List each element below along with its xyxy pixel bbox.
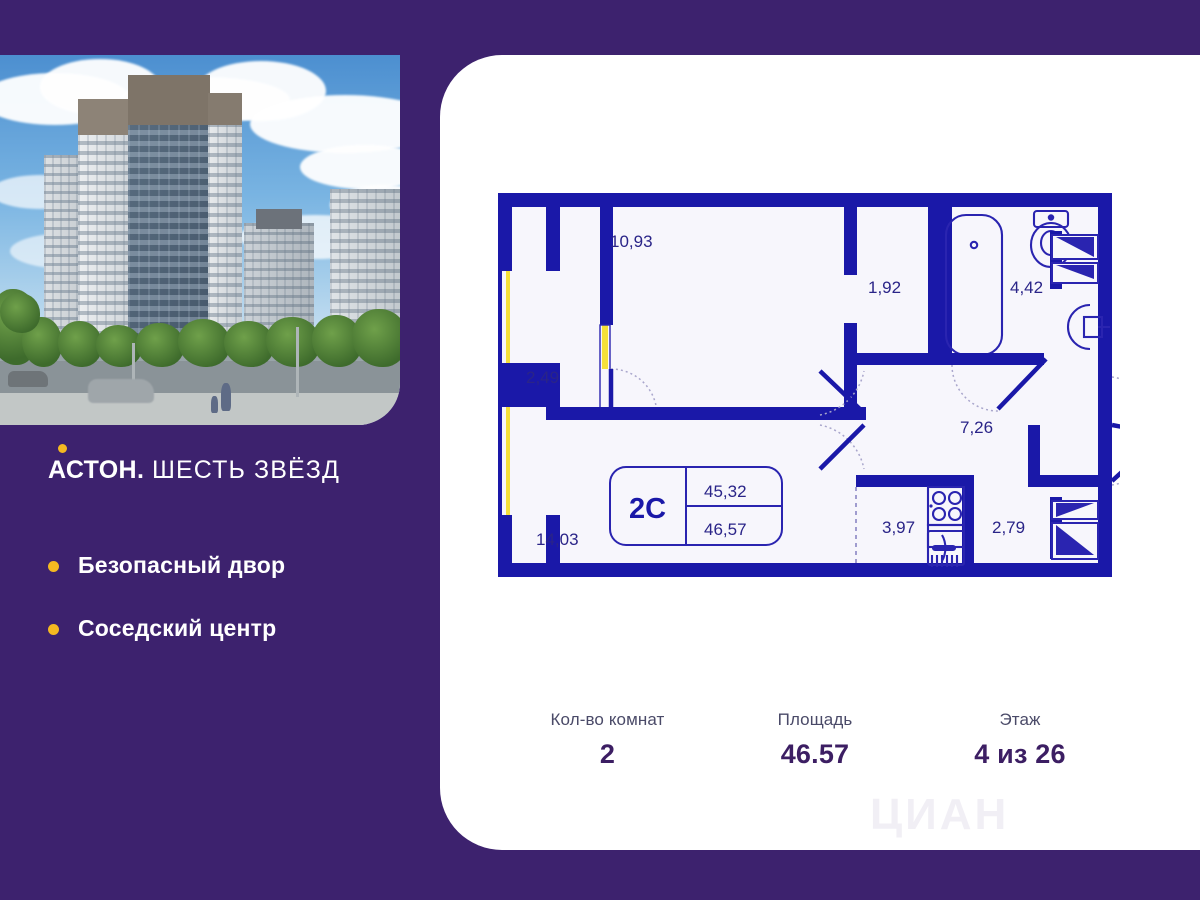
person-adult: [221, 383, 231, 411]
room-area-kitchen: 3,97: [882, 518, 915, 537]
stat-label: Площадь: [715, 710, 915, 730]
stat-value: 4 из 26: [915, 739, 1125, 770]
brand-name-primary: АСТОН: [48, 456, 137, 484]
person-child: [211, 396, 218, 413]
room-area-entrance: 2,79: [992, 518, 1025, 537]
page-root: АСТОН. ШЕСТЬ ЗВЁЗД Безопасный двор Сосед…: [0, 0, 1200, 900]
feature-list: Безопасный двор Соседский центр: [48, 552, 285, 678]
brand-logo: АСТОН. ШЕСТЬ ЗВЁЗД: [48, 456, 340, 485]
stat-value: 2: [500, 739, 715, 770]
stat-rooms: Кол-во комнат 2: [500, 710, 715, 770]
floor-plan[interactable]: .w{fill:#1A18A8;} .rm{fill:#F7F6FC;} .fx…: [490, 185, 1120, 605]
building-render-image: [0, 55, 400, 425]
car-parked: [8, 371, 48, 387]
badge-area-living: 45,32: [704, 482, 747, 501]
stat-value: 46.57: [715, 739, 915, 770]
feature-item: Безопасный двор: [48, 552, 285, 579]
car-foreground: [88, 379, 154, 403]
bullet-icon: [48, 624, 59, 635]
tree-line: [0, 305, 400, 367]
room-area-balcony: 2,49: [526, 368, 559, 387]
badge-type: 2С: [629, 493, 666, 525]
room-area-living: 14,03: [536, 530, 579, 549]
brand-accent-dot: [58, 444, 67, 453]
feature-label: Соседский центр: [78, 615, 276, 641]
brand-name-separator: .: [137, 456, 144, 484]
room-area-bedroom: 10,93: [610, 232, 653, 251]
apartment-stats: Кол-во комнат 2 Площадь 46.57 Этаж 4 из …: [500, 710, 1140, 770]
feature-label: Безопасный двор: [78, 552, 285, 578]
feature-item: Соседский центр: [48, 615, 285, 642]
stat-floor: Этаж 4 из 26: [915, 710, 1125, 770]
watermark: ЦИАН: [870, 790, 1009, 840]
room-area-hall: 7,26: [960, 418, 993, 437]
badge-area-total: 46,57: [704, 520, 747, 539]
stat-label: Этаж: [915, 710, 1125, 730]
floorplan-card: .w{fill:#1A18A8;} .rm{fill:#F7F6FC;} .fx…: [440, 55, 1200, 850]
stat-label: Кол-во комнат: [500, 710, 715, 730]
brand-name-secondary: ШЕСТЬ ЗВЁЗД: [144, 456, 340, 484]
stat-area: Площадь 46.57: [715, 710, 915, 770]
room-area-wardrobe: 1,92: [868, 278, 901, 297]
left-promo-panel: АСТОН. ШЕСТЬ ЗВЁЗД Безопасный двор Сосед…: [0, 0, 440, 900]
apartment-type-badge: 2С 45,32 46,57: [610, 467, 782, 545]
bullet-icon: [48, 561, 59, 572]
room-area-bathroom: 4,42: [1010, 278, 1043, 297]
